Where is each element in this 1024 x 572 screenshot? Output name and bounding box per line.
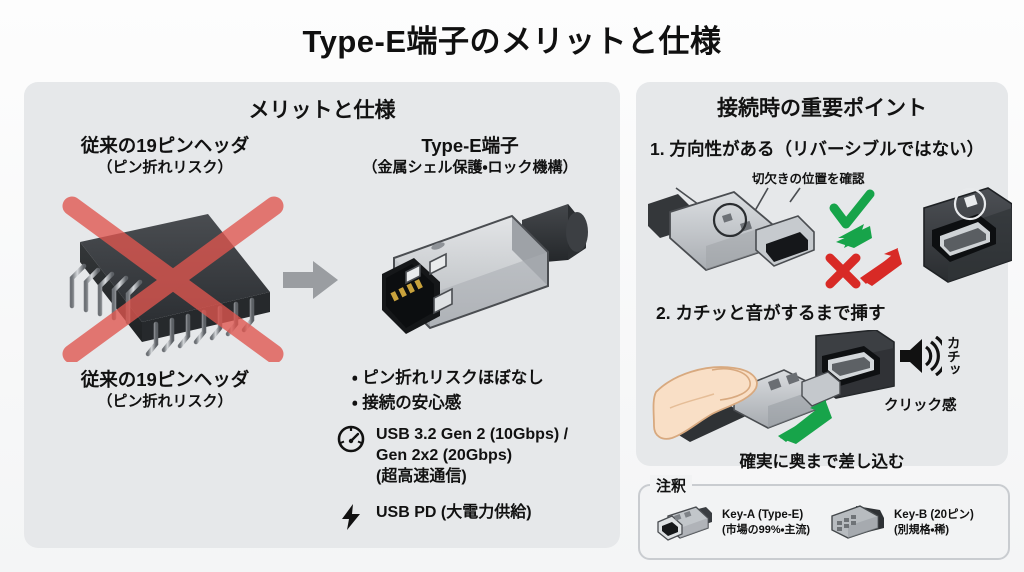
step-2-title: 2. カチッと音がするまで挿す [656, 300, 885, 325]
legend-note-key-a: (市場の99%・主流) [722, 523, 810, 538]
click-feel-text: クリック感 [884, 394, 957, 415]
legacy-19pin-header-illustration [48, 196, 300, 362]
red-x-icon [830, 258, 856, 284]
step-1-orientation-illustration [648, 186, 1012, 294]
arrow-right-icon [283, 258, 339, 302]
legend-note-key-b: (別規格・稀) [894, 523, 974, 538]
legend-name-key-a: Key-A (Type-E) [722, 509, 803, 521]
legend-text-key-b: Key-B (20ピン) (別規格・稀) [894, 508, 974, 538]
green-check-icon [834, 194, 870, 224]
benefit-bullet-1: ・ 接続の安心感 [352, 391, 602, 416]
old-connector-caption-subtitle: （ピン折れリスク） [34, 392, 296, 411]
spec-row-speed: USB 3.2 Gen 2 (10Gbps) / Gen 2x2 (20Gbps… [336, 424, 608, 487]
old-connector-title-block: 従来の19ピンヘッダ （ピン折れリスク） [34, 134, 296, 177]
spec-power-text: USB PD (大電力供給) [376, 502, 532, 523]
left-panel-heading: メリットと仕様 [24, 94, 620, 124]
key-b-connector-icon [826, 502, 888, 544]
click-sound-group: カチッ [898, 336, 959, 377]
legend-box: 注釈 Key-A (Type-E) (市場の99%・主流) [638, 484, 1010, 560]
spec-speed-text: USB 3.2 Gen 2 (10Gbps) / Gen 2x2 (20Gbps… [376, 424, 568, 487]
notch-callout-label: 切欠きの位置を確認 [752, 168, 865, 187]
legend-text-key-a: Key-A (Type-E) (市場の99%・主流) [722, 508, 810, 538]
key-a-connector-icon [654, 502, 716, 544]
legend-title: 注釈 [650, 475, 692, 496]
legend-name-key-b: Key-B (20ピン) [894, 509, 974, 521]
new-connector-title-block: Type-E端子 （金属シェル保護・ロック機構） [330, 134, 610, 177]
benefit-bullet-0: ・ ピン折れリスクほぼなし [352, 366, 602, 391]
legend-item-key-b: Key-B (20ピン) (別規格・稀) [826, 502, 974, 544]
speaker-icon [898, 336, 942, 376]
type-e-connector-illustration [372, 186, 608, 362]
new-connector-subtitle: （金属シェル保護・ロック機構） [330, 158, 610, 177]
infographic-page: Type-E端子のメリットと仕様 メリットと仕様 従来の19ピンヘッダ （ピン折… [0, 0, 1024, 572]
spec-speed-line-1: Gen 2x2 (20Gbps) [376, 445, 568, 466]
lightning-bolt-icon [336, 502, 366, 532]
legend-item-key-a: Key-A (Type-E) (市場の99%・主流) [654, 502, 810, 544]
right-panel-heading: 接続時の重要ポイント [636, 92, 1008, 122]
old-connector-title: 従来の19ピンヘッダ [34, 134, 296, 158]
spec-speed-line-0: USB 3.2 Gen 2 (10Gbps) / [376, 424, 568, 445]
old-connector-caption-title: 従来の19ピンヘッダ [34, 368, 296, 392]
benefit-bullet-list: ・ ピン折れリスクほぼなし ・ 接続の安心感 [352, 366, 602, 416]
new-connector-title: Type-E端子 [330, 134, 610, 158]
click-sound-text: カチッ [945, 336, 959, 377]
step-1-title: 1. 方向性がある（リバーシブルではない） [650, 136, 984, 161]
step-2-insertion-illustration [650, 330, 912, 446]
step-2-caption: 確実に奥まで差し込む [636, 448, 1008, 472]
spec-power-line-0: USB PD (大電力供給) [376, 502, 532, 523]
old-connector-subtitle: （ピン折れリスク） [34, 158, 296, 177]
speedometer-icon [336, 424, 366, 454]
page-title: Type-E端子のメリットと仕様 [0, 16, 1024, 61]
spec-speed-line-2: (超高速通信) [376, 466, 568, 487]
old-connector-caption-block: 従来の19ピンヘッダ （ピン折れリスク） [34, 368, 296, 411]
spec-row-power: USB PD (大電力供給) [336, 502, 608, 532]
